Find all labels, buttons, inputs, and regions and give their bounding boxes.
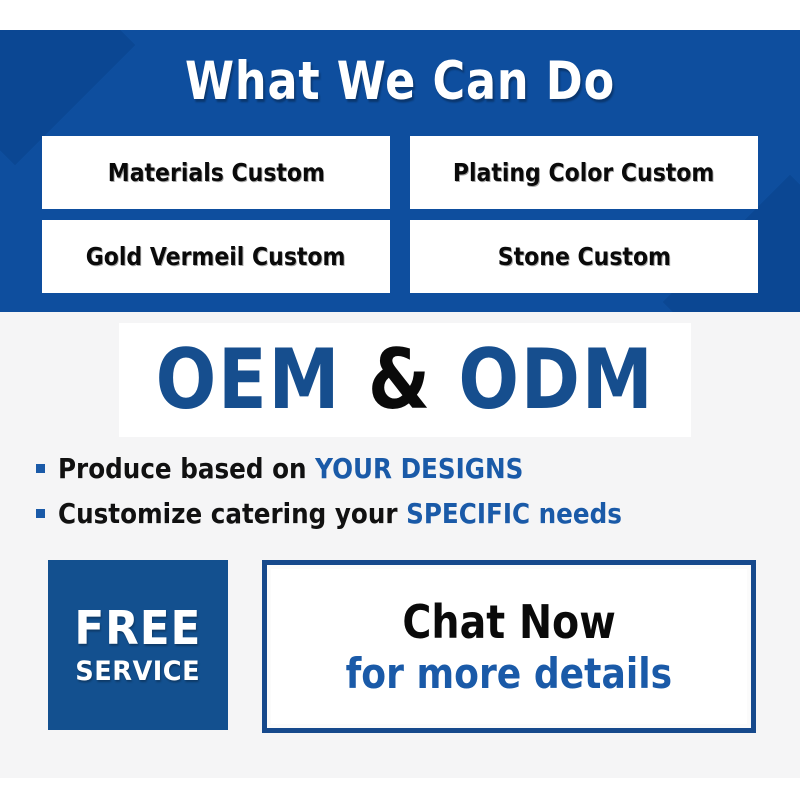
benefits-list: Produce based on YOUR DESIGNS Customize … <box>36 452 776 542</box>
square-bullet-icon <box>36 464 45 473</box>
chat-now-headline: Chat Now <box>402 596 615 648</box>
free-service-badge: FREE SERVICE <box>48 560 228 730</box>
square-bullet-icon <box>36 509 45 518</box>
odm-text: ODM <box>458 331 654 428</box>
page-title: What We Can Do <box>64 52 736 112</box>
capability-card-stone[interactable]: Stone Custom <box>410 220 758 293</box>
list-item: Produce based on YOUR DESIGNS <box>36 452 776 485</box>
capability-card-gold-vermeil[interactable]: Gold Vermeil Custom <box>42 220 390 293</box>
promo-poster: What We Can Do Materials Custom Plating … <box>0 0 800 800</box>
benefit-lead-text: Produce based on <box>58 452 315 485</box>
capability-row: Gold Vermeil Custom Stone Custom <box>42 220 758 293</box>
capability-card-label: Materials Custom <box>107 158 324 187</box>
chat-now-inner: Chat Now for more details <box>271 569 747 724</box>
capability-row: Materials Custom Plating Color Custom <box>42 136 758 209</box>
benefit-text: Customize catering your SPECIFIC needs <box>58 497 622 530</box>
benefit-highlight-text: YOUR DESIGNS <box>315 452 523 485</box>
oem-odm-headline: OEM & ODM <box>156 336 655 424</box>
capability-card-materials[interactable]: Materials Custom <box>42 136 390 209</box>
capability-card-label: Plating Color Custom <box>453 158 715 187</box>
header-panel: What We Can Do Materials Custom Plating … <box>0 30 800 312</box>
capability-grid: Materials Custom Plating Color Custom Go… <box>42 136 758 304</box>
oem-odm-banner: OEM & ODM <box>119 323 691 437</box>
free-service-line-one: FREE <box>74 604 201 652</box>
benefit-lead-text: Customize catering your <box>58 497 406 530</box>
capability-card-label: Stone Custom <box>497 242 670 271</box>
list-item: Customize catering your SPECIFIC needs <box>36 497 776 530</box>
chat-now-subline: for more details <box>346 650 673 698</box>
oem-text: OEM <box>156 331 342 428</box>
capability-card-label: Gold Vermeil Custom <box>86 242 346 271</box>
benefit-highlight-text: SPECIFIC needs <box>406 497 622 530</box>
free-service-line-two: SERVICE <box>76 657 201 687</box>
benefit-text: Produce based on YOUR DESIGNS <box>58 452 523 485</box>
chat-now-button[interactable]: Chat Now for more details <box>262 560 756 733</box>
capability-card-plating-color[interactable]: Plating Color Custom <box>410 136 758 209</box>
ampersand-text: & <box>341 331 458 428</box>
